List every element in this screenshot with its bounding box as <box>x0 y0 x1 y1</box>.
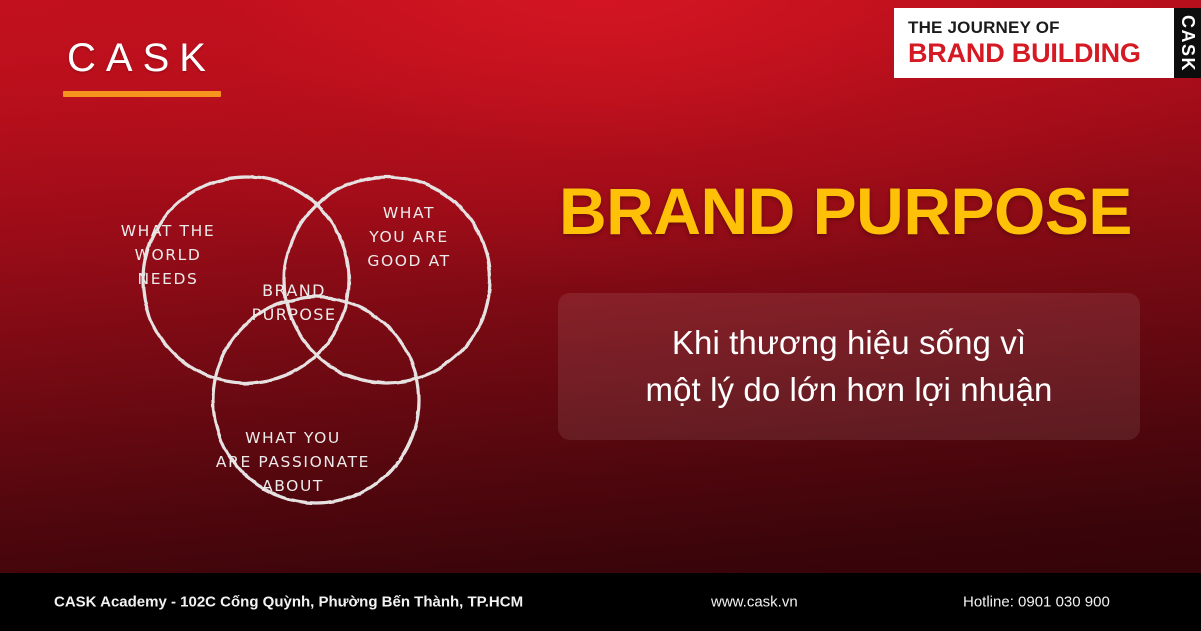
svg-text:WHAT THE: WHAT THE <box>121 222 216 240</box>
journey-of-brand-building-badge: THE JOURNEY OF BRAND BUILDING CASK <box>894 8 1201 78</box>
venn-circle-passionate-about <box>213 297 419 503</box>
subtitle-line-1: Khi thương hiệu sống vì <box>672 320 1026 367</box>
cask-logo-text: CASK <box>61 38 226 78</box>
footer-address: CASK Academy - 102C Cống Quỳnh, Phường B… <box>54 594 523 611</box>
footer-website[interactable]: www.cask.vn <box>711 594 798 611</box>
svg-text:YOU ARE: YOU ARE <box>368 228 448 246</box>
journey-badge-side-strip: CASK <box>1174 8 1201 78</box>
svg-text:WHAT: WHAT <box>383 204 435 222</box>
footer-hotline: Hotline: 0901 030 900 <box>963 594 1110 611</box>
venn-diagram-svg: WHAT THE WORLD NEEDS WHAT YOU ARE GOOD A… <box>60 128 520 548</box>
cask-logo-underline <box>63 91 221 97</box>
venn-label-good-at: WHAT YOU ARE GOOD AT <box>367 204 450 270</box>
footer-bar: CASK Academy - 102C Cống Quỳnh, Phường B… <box>0 573 1201 631</box>
venn-label-world-needs: WHAT THE WORLD NEEDS <box>121 222 216 288</box>
journey-badge-line2: BRAND BUILDING <box>908 39 1160 67</box>
subtitle-panel: Khi thương hiệu sống vì một lý do lớn hơ… <box>558 293 1140 440</box>
subtitle-line-2: một lý do lớn hơn lợi nhuận <box>646 367 1053 414</box>
slide-canvas: CASK THE JOURNEY OF BRAND BUILDING CASK <box>0 0 1201 631</box>
journey-badge-line1: THE JOURNEY OF <box>908 19 1160 37</box>
cask-logo[interactable]: CASK <box>61 38 226 97</box>
venn-diagram: WHAT THE WORLD NEEDS WHAT YOU ARE GOOD A… <box>60 128 520 548</box>
journey-badge-side-label: CASK <box>1177 14 1198 71</box>
page-title: BRAND PURPOSE <box>559 178 1132 244</box>
svg-text:WHAT YOU: WHAT YOU <box>245 429 341 447</box>
svg-text:WORLD: WORLD <box>135 246 202 264</box>
svg-text:GOOD AT: GOOD AT <box>367 252 450 270</box>
svg-text:ARE PASSIONATE: ARE PASSIONATE <box>216 453 370 471</box>
svg-text:NEEDS: NEEDS <box>138 270 199 288</box>
venn-label-brand-purpose: BRAND PURPOSE <box>252 281 337 324</box>
journey-badge-white-panel: THE JOURNEY OF BRAND BUILDING <box>894 8 1174 78</box>
venn-label-passionate-about: WHAT YOU ARE PASSIONATE ABOUT <box>216 429 370 495</box>
svg-text:BRAND: BRAND <box>262 281 326 300</box>
svg-text:PURPOSE: PURPOSE <box>252 305 337 324</box>
svg-text:ABOUT: ABOUT <box>262 477 324 495</box>
